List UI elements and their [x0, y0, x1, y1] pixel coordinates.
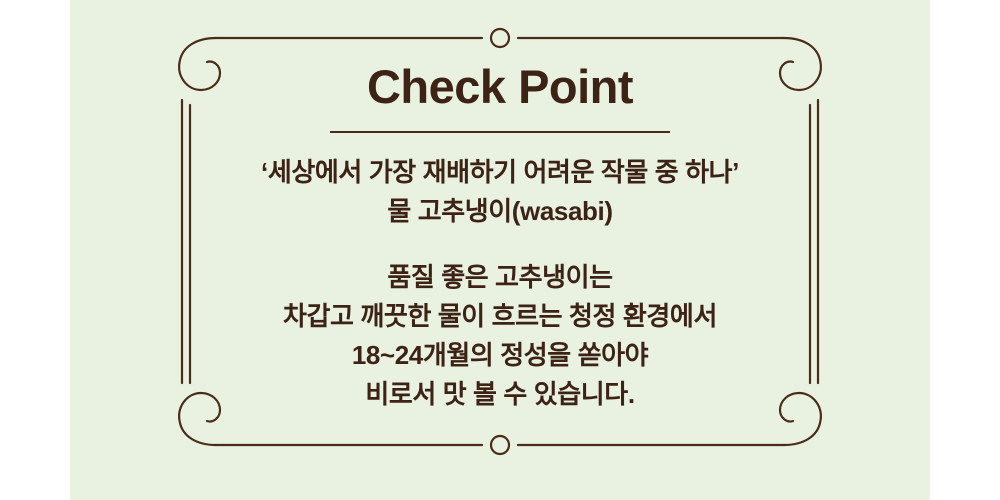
title-divider	[330, 131, 670, 133]
quote-line-1: ‘세상에서 가장 재배하기 어려운 작물 중 하나’	[261, 153, 739, 191]
card-content: Check Point ‘세상에서 가장 재배하기 어려운 작물 중 하나’ 물…	[70, 0, 930, 500]
page-title: Check Point	[367, 62, 633, 111]
body-line-1: 품질 좋은 고추냉이는	[283, 258, 717, 297]
body-line-4: 비로서 맛 볼 수 있습니다.	[283, 375, 717, 414]
quote-block: ‘세상에서 가장 재배하기 어려운 작물 중 하나’ 물 고추냉이(wasabi…	[261, 153, 739, 230]
body-line-3: 18~24개월의 정성을 쏟아야	[283, 336, 717, 375]
checkpoint-card: Check Point ‘세상에서 가장 재배하기 어려운 작물 중 하나’ 물…	[0, 0, 1000, 500]
body-line-2: 차갑고 깨끗한 물이 흐르는 청정 환경에서	[283, 297, 717, 336]
quote-line-2: 물 고추냉이(wasabi)	[261, 192, 739, 230]
body-block: 품질 좋은 고추냉이는 차갑고 깨끗한 물이 흐르는 청정 환경에서 18~24…	[283, 258, 717, 414]
